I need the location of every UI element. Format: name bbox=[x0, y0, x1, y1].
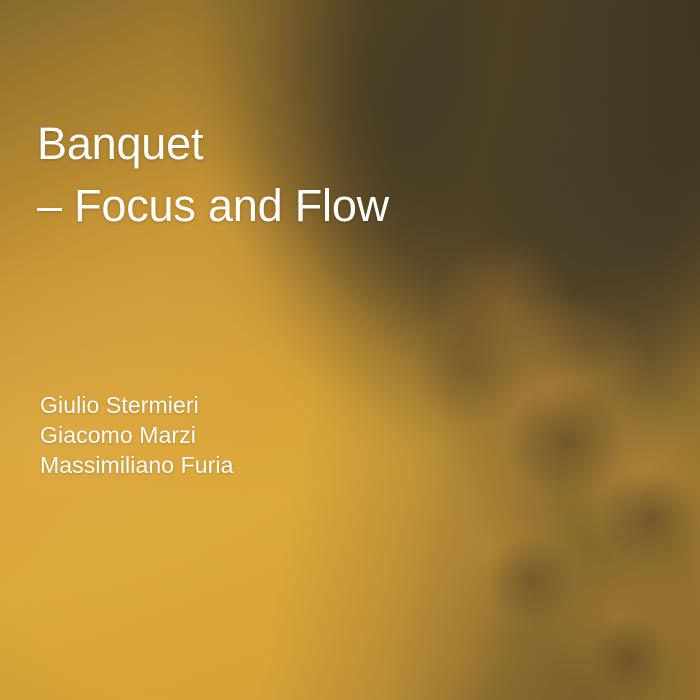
album-title: Banquet – Focus and Flow bbox=[37, 113, 389, 237]
cover-text-layer: Banquet – Focus and Flow Giulio Stermier… bbox=[0, 0, 700, 700]
album-title-line-2: – Focus and Flow bbox=[37, 175, 389, 237]
artist-name-3: Massimiliano Furia bbox=[40, 450, 234, 480]
artist-credits: Giulio Stermieri Giacomo Marzi Massimili… bbox=[40, 390, 234, 480]
artist-name-1: Giulio Stermieri bbox=[40, 390, 234, 420]
album-title-line-1: Banquet bbox=[37, 113, 389, 175]
artist-name-2: Giacomo Marzi bbox=[40, 420, 234, 450]
album-cover-artwork: Banquet – Focus and Flow Giulio Stermier… bbox=[0, 0, 700, 700]
